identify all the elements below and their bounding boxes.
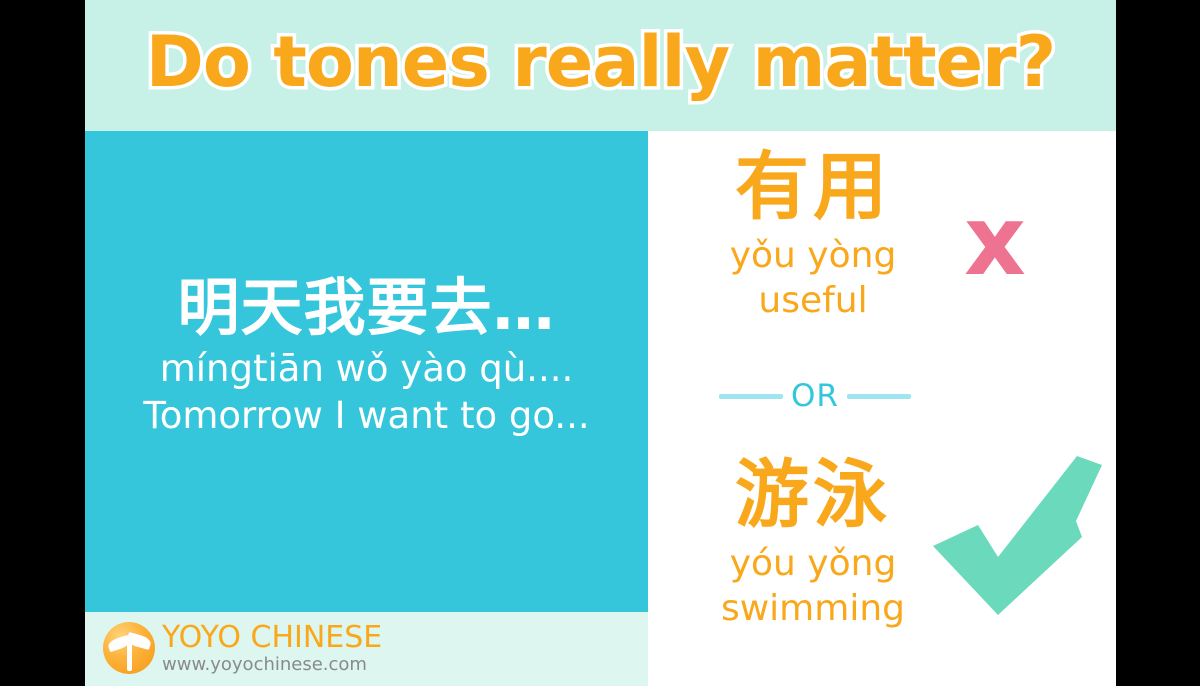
left-example-panel: 明天我要去… míngtiān wǒ yào qù.... Tomorrow I… bbox=[85, 131, 648, 612]
brand-name: YOYO CHINESE bbox=[162, 623, 382, 653]
option-incorrect-pinyin: yǒu yòng bbox=[648, 233, 978, 278]
option-incorrect: 有用 yǒu yòng useful bbox=[648, 141, 978, 323]
option-correct: 游泳 yóu yǒng swimming bbox=[648, 449, 978, 631]
left-english-sentence: Tomorrow I want to go... bbox=[85, 392, 648, 439]
logo-stem bbox=[127, 643, 132, 671]
option-incorrect-hanzi: 有用 bbox=[648, 141, 978, 233]
brand-logo[interactable]: YOYO CHINESE www.yoyochinese.com bbox=[103, 622, 382, 674]
option-correct-english: swimming bbox=[648, 586, 978, 631]
or-divider-line-left bbox=[719, 394, 783, 399]
slide-content-frame: Do tones really matter? 明天我要去… míngtiān … bbox=[85, 0, 1116, 686]
slide-canvas: Do tones really matter? 明天我要去… míngtiān … bbox=[0, 0, 1200, 686]
footer-strip: YOYO CHINESE www.yoyochinese.com bbox=[85, 612, 648, 686]
left-hanzi-sentence: 明天我要去… bbox=[85, 271, 648, 345]
left-pinyin-sentence: míngtiān wǒ yào qù.... bbox=[85, 345, 648, 392]
or-divider-line-right bbox=[847, 394, 911, 399]
sprout-logo-icon bbox=[103, 622, 155, 674]
left-example-text-stack: 明天我要去… míngtiān wǒ yào qù.... Tomorrow I… bbox=[85, 271, 648, 439]
option-correct-hanzi: 游泳 bbox=[648, 449, 978, 541]
check-mark-icon bbox=[930, 453, 1105, 618]
or-divider-label: OR bbox=[791, 379, 839, 413]
header-band: Do tones really matter? bbox=[85, 0, 1116, 131]
option-incorrect-english: useful bbox=[648, 278, 978, 323]
brand-url: www.yoyochinese.com bbox=[162, 656, 382, 674]
or-divider: OR bbox=[656, 379, 974, 413]
option-correct-pinyin: yóu yǒng bbox=[648, 541, 978, 586]
letterbox-bar-right bbox=[1116, 0, 1200, 686]
x-mark-icon: x bbox=[964, 193, 1026, 289]
letterbox-bar-left bbox=[0, 0, 85, 686]
right-options-panel: 有用 yǒu yòng useful x OR 游泳 yóu yǒng swim… bbox=[648, 131, 1116, 686]
page-title: Do tones really matter? bbox=[85, 6, 1116, 118]
brand-logo-text: YOYO CHINESE www.yoyochinese.com bbox=[162, 623, 382, 674]
